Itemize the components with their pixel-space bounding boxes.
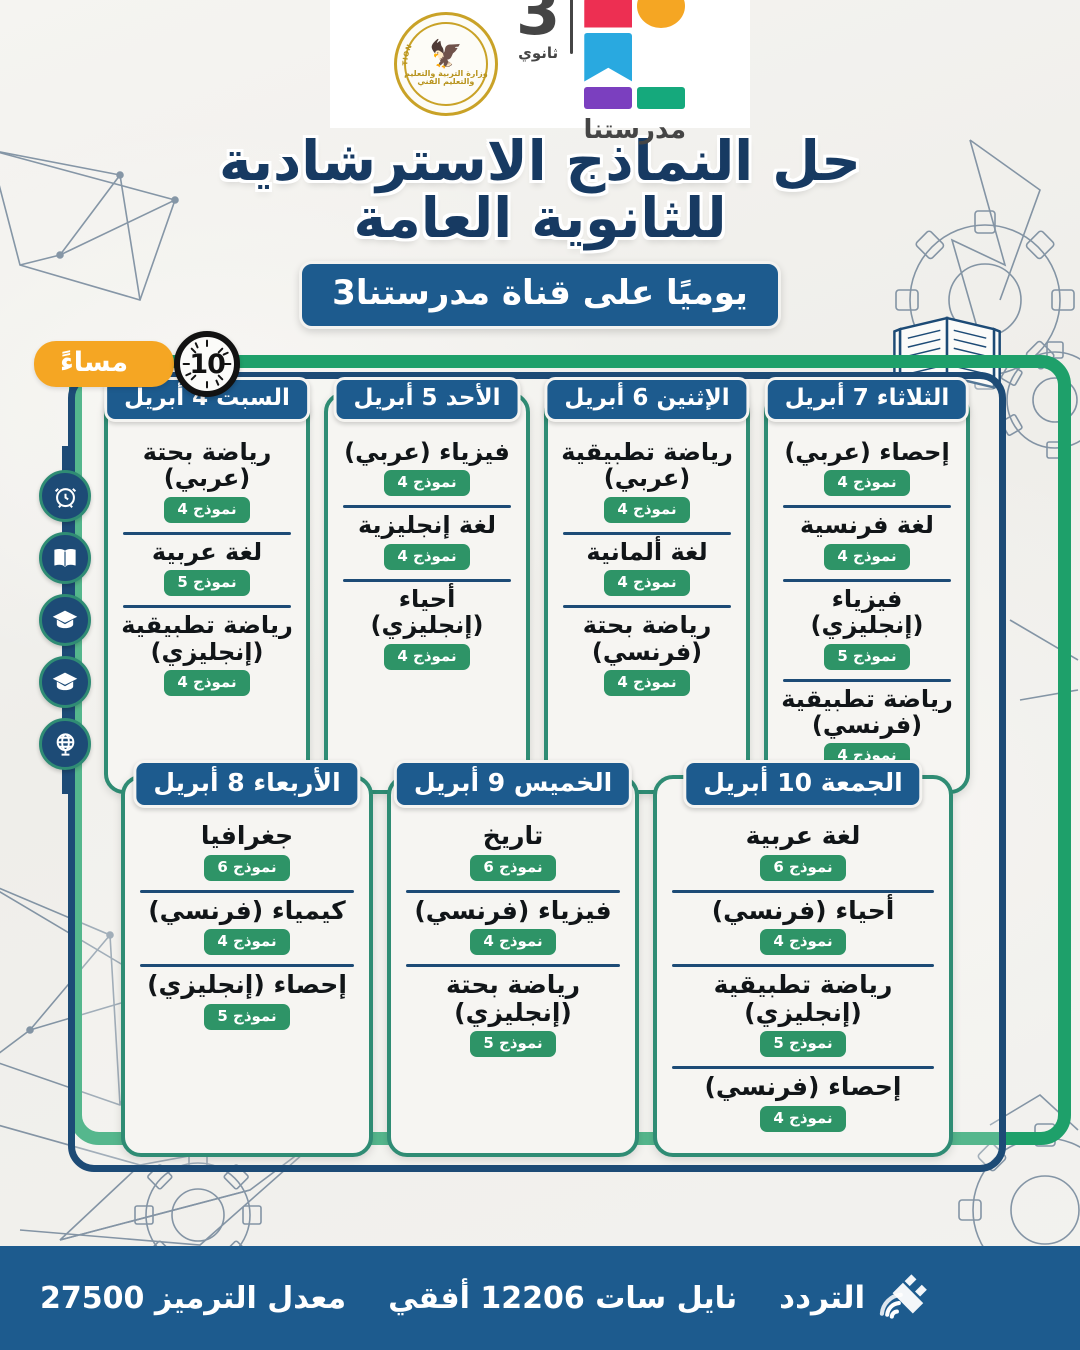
day-header: الثلاثاء 7 أبريل — [765, 377, 969, 422]
model-badge: نموذج 4 — [384, 544, 469, 570]
subject-item[interactable]: فيزياء (فرنسي)نموذج 4 — [400, 890, 626, 965]
graduation-cap-icon[interactable] — [39, 656, 91, 708]
subject-name: لغة عربية — [668, 822, 938, 850]
subject-item[interactable]: لغة فرنسيةنموذج 4 — [777, 505, 957, 578]
subject-name: فيزياء (عربي) — [339, 439, 515, 465]
infographic-page: 3 ثانوي مدرستنا MINISTRY OF EDUCATION — [0, 0, 1080, 1350]
day-card[interactable]: الثلاثاء 7 أبريلإحصاء (عربي)نموذج 4لغة ف… — [764, 392, 970, 794]
grade-block: 3 ثانوي — [516, 0, 561, 62]
subject-name: رياضة بحتة (عربي) — [119, 439, 295, 492]
model-badge: نموذج 4 — [384, 470, 469, 496]
grade-label: ثانوي — [518, 44, 558, 62]
seal-center: 🦅 وزارة التربية والتعليم والتعليم الفني — [397, 41, 495, 86]
subject-name: إحصاء (فرنسي) — [668, 1073, 938, 1101]
alarm-clock-icon[interactable] — [39, 470, 91, 522]
model-badge: نموذج 4 — [604, 497, 689, 523]
subject-item[interactable]: رياضة تطبيقية (عربي)نموذج 4 — [557, 432, 737, 532]
house-shape — [584, 0, 632, 28]
day-header: الخميس 9 أبريل — [394, 760, 632, 808]
day-header: الأربعاء 8 أبريل — [133, 760, 360, 808]
footer-bar: التردد نايل سات 12206 أفقي معدل الترميز … — [0, 1246, 1080, 1350]
ministry-seal-icon: MINISTRY OF EDUCATION AND TECHNICAL EDUC… — [394, 12, 498, 116]
day-card[interactable]: الأحد 5 أبريلفيزياء (عربي)نموذج 4لغة إنج… — [324, 392, 530, 794]
subject-item[interactable]: لغة ألمانيةنموذج 4 — [557, 532, 737, 605]
subject-item[interactable]: تاريخنموذج 6 — [400, 815, 626, 890]
subject-name: جغرافيا — [136, 822, 358, 850]
satellite-info: نايل سات 12206 أفقي — [388, 1281, 737, 1316]
subject-name: رياضة تطبيقية (إنجليزي) — [119, 612, 295, 665]
brand-block: مدرستنا — [583, 0, 686, 145]
symbol-rate-info: معدل الترميز 27500 — [40, 1281, 346, 1316]
subject-name: كيمياء (فرنسي) — [136, 897, 358, 925]
day-header: الجمعة 10 أبريل — [683, 760, 922, 808]
subject-list: فيزياء (عربي)نموذج 4لغة إنجليزيةنموذج 4أ… — [337, 426, 517, 679]
model-badge: نموذج 5 — [164, 570, 249, 596]
subject-name: رياضة بحتة (فرنسي) — [559, 612, 735, 665]
model-badge: نموذج 4 — [204, 929, 289, 955]
subject-name: إحصاء (عربي) — [779, 439, 955, 465]
subject-item[interactable]: رياضة تطبيقية (إنجليزي)نموذج 5 — [666, 964, 940, 1066]
model-badge: نموذج 4 — [760, 1106, 845, 1132]
period-label: مساءً — [34, 341, 174, 387]
subject-name: رياضة بحتة (إنجليزي) — [402, 971, 624, 1026]
subject-item[interactable]: إحصاء (عربي)نموذج 4 — [777, 432, 957, 505]
subject-name: فيزياء (فرنسي) — [402, 897, 624, 925]
model-badge: نموذج 4 — [760, 929, 845, 955]
seal-arabic-text: وزارة التربية والتعليم والتعليم الفني — [397, 70, 495, 87]
main-title-line-2: للثانوية العامة — [0, 190, 1080, 247]
frequency-group: التردد — [779, 1269, 937, 1327]
clock-ticks — [180, 337, 234, 391]
satellite-icon — [879, 1269, 937, 1327]
logo-divider — [570, 0, 573, 54]
open-book-icon[interactable] — [39, 532, 91, 584]
subject-list: رياضة بحتة (عربي)نموذج 4لغة عربيةنموذج 5… — [117, 426, 297, 705]
subject-list: لغة عربيةنموذج 6أحياء (فرنسي)نموذج 4رياض… — [666, 809, 940, 1141]
day-card[interactable]: الجمعة 10 أبريللغة عربيةنموذج 6أحياء (فر… — [653, 775, 953, 1157]
green-bar — [637, 87, 685, 109]
model-badge: نموذج 4 — [824, 470, 909, 496]
subject-name: رياضة تطبيقية (عربي) — [559, 439, 735, 492]
grade-number: 3 — [516, 0, 561, 42]
model-badge: نموذج 4 — [824, 544, 909, 570]
subject-item[interactable]: رياضة بحتة (فرنسي)نموذج 4 — [557, 605, 737, 705]
subject-item[interactable]: جغرافيانموذج 6 — [134, 815, 360, 890]
model-badge: نموذج 4 — [384, 644, 469, 670]
subject-item[interactable]: كيمياء (فرنسي)نموذج 4 — [134, 890, 360, 965]
subject-item[interactable]: لغة عربيةنموذج 5 — [117, 532, 297, 605]
day-card[interactable]: الأربعاء 8 أبريلجغرافيانموذج 6كيمياء (فر… — [121, 775, 373, 1157]
logo-blocks-icon — [584, 0, 685, 109]
model-badge: نموذج 5 — [824, 644, 909, 670]
day-card[interactable]: الخميس 9 أبريلتاريخنموذج 6فيزياء (فرنسي)… — [387, 775, 639, 1157]
subject-item[interactable]: لغة إنجليزيةنموذج 4 — [337, 505, 517, 578]
model-badge: نموذج 5 — [470, 1031, 555, 1057]
subject-name: لغة فرنسية — [779, 512, 955, 538]
subject-list: إحصاء (عربي)نموذج 4لغة فرنسيةنموذج 4فيزي… — [777, 426, 957, 778]
subject-item[interactable]: إحصاء (فرنسي)نموذج 4 — [666, 1066, 940, 1141]
schedule-row-2: الجمعة 10 أبريللغة عربيةنموذج 6أحياء (فر… — [86, 775, 988, 1157]
subject-list: تاريخنموذج 6فيزياء (فرنسي)نموذج 4رياضة ب… — [400, 809, 626, 1066]
subject-name: أحياء (إنجليزي) — [339, 586, 515, 639]
subject-item[interactable]: رياضة بحتة (عربي)نموذج 4 — [117, 432, 297, 532]
brand-word: مدرستنا — [583, 115, 686, 145]
subtitle-pill: يوميًا على قناة مدرستنا3 — [299, 261, 781, 329]
model-badge: نموذج 4 — [164, 670, 249, 696]
purple-bar — [584, 87, 632, 109]
eagle-icon: 🦅 — [397, 41, 495, 69]
subject-item[interactable]: فيزياء (إنجليزي)نموذج 5 — [777, 579, 957, 679]
subject-name: فيزياء (إنجليزي) — [779, 586, 955, 639]
schedule-row-1: الثلاثاء 7 أبريلإحصاء (عربي)نموذج 4لغة ف… — [86, 392, 988, 794]
subject-item[interactable]: رياضة تطبيقية (إنجليزي)نموذج 4 — [117, 605, 297, 705]
model-badge: نموذج 6 — [470, 855, 555, 881]
subject-item[interactable]: أحياء (إنجليزي)نموذج 4 — [337, 579, 517, 679]
frequency-label: التردد — [779, 1280, 865, 1316]
day-header: الأحد 5 أبريل — [334, 377, 521, 422]
time-badge: 10 مساءً — [68, 331, 240, 397]
model-badge: نموذج 5 — [760, 1031, 845, 1057]
sidebar-icons — [34, 470, 96, 770]
model-badge: نموذج 6 — [760, 855, 845, 881]
madrasatna-logo: 3 ثانوي مدرستنا — [516, 0, 686, 145]
subject-item[interactable]: أحياء (فرنسي)نموذج 4 — [666, 890, 940, 965]
model-badge: نموذج 4 — [164, 497, 249, 523]
subject-item[interactable]: فيزياء (عربي)نموذج 4 — [337, 432, 517, 505]
title-block: حل النماذج الاسترشادية للثانوية العامة ي… — [0, 133, 1080, 329]
subject-name: رياضة تطبيقية (إنجليزي) — [668, 971, 938, 1026]
clock-icon: 10 — [174, 331, 240, 397]
subject-name: إحصاء (إنجليزي) — [136, 971, 358, 999]
day-card[interactable]: الإثنين 6 أبريلرياضة تطبيقية (عربي)نموذج… — [544, 392, 750, 794]
logo-strip: 3 ثانوي مدرستنا MINISTRY OF EDUCATION — [330, 0, 750, 128]
subject-item[interactable]: رياضة بحتة (إنجليزي)نموذج 5 — [400, 964, 626, 1066]
subject-item[interactable]: لغة عربيةنموذج 6 — [666, 815, 940, 890]
subject-name: رياضة تطبيقية (فرنسي) — [779, 686, 955, 739]
circle-shape — [637, 0, 685, 28]
graduation-cap-icon[interactable] — [39, 594, 91, 646]
subject-name: أحياء (فرنسي) — [668, 897, 938, 925]
subject-list: جغرافيانموذج 6كيمياء (فرنسي)نموذج 4إحصاء… — [134, 809, 360, 1039]
subject-item[interactable]: إحصاء (إنجليزي)نموذج 5 — [134, 964, 360, 1039]
model-badge: نموذج 4 — [604, 670, 689, 696]
subject-name: لغة عربية — [119, 539, 295, 565]
subject-name: لغة ألمانية — [559, 539, 735, 565]
model-badge: نموذج 4 — [470, 929, 555, 955]
subject-name: لغة إنجليزية — [339, 512, 515, 538]
globe-icon[interactable] — [39, 718, 91, 770]
model-badge: نموذج 5 — [204, 1004, 289, 1030]
model-badge: نموذج 4 — [604, 570, 689, 596]
day-header: الإثنين 6 أبريل — [544, 377, 749, 422]
day-card[interactable]: السبت 4 أبريلرياضة بحتة (عربي)نموذج 4لغة… — [104, 392, 310, 794]
model-badge: نموذج 6 — [204, 855, 289, 881]
subject-list: رياضة تطبيقية (عربي)نموذج 4لغة ألمانيةنم… — [557, 426, 737, 705]
subject-name: تاريخ — [402, 822, 624, 850]
bookmark-shape — [584, 33, 632, 82]
